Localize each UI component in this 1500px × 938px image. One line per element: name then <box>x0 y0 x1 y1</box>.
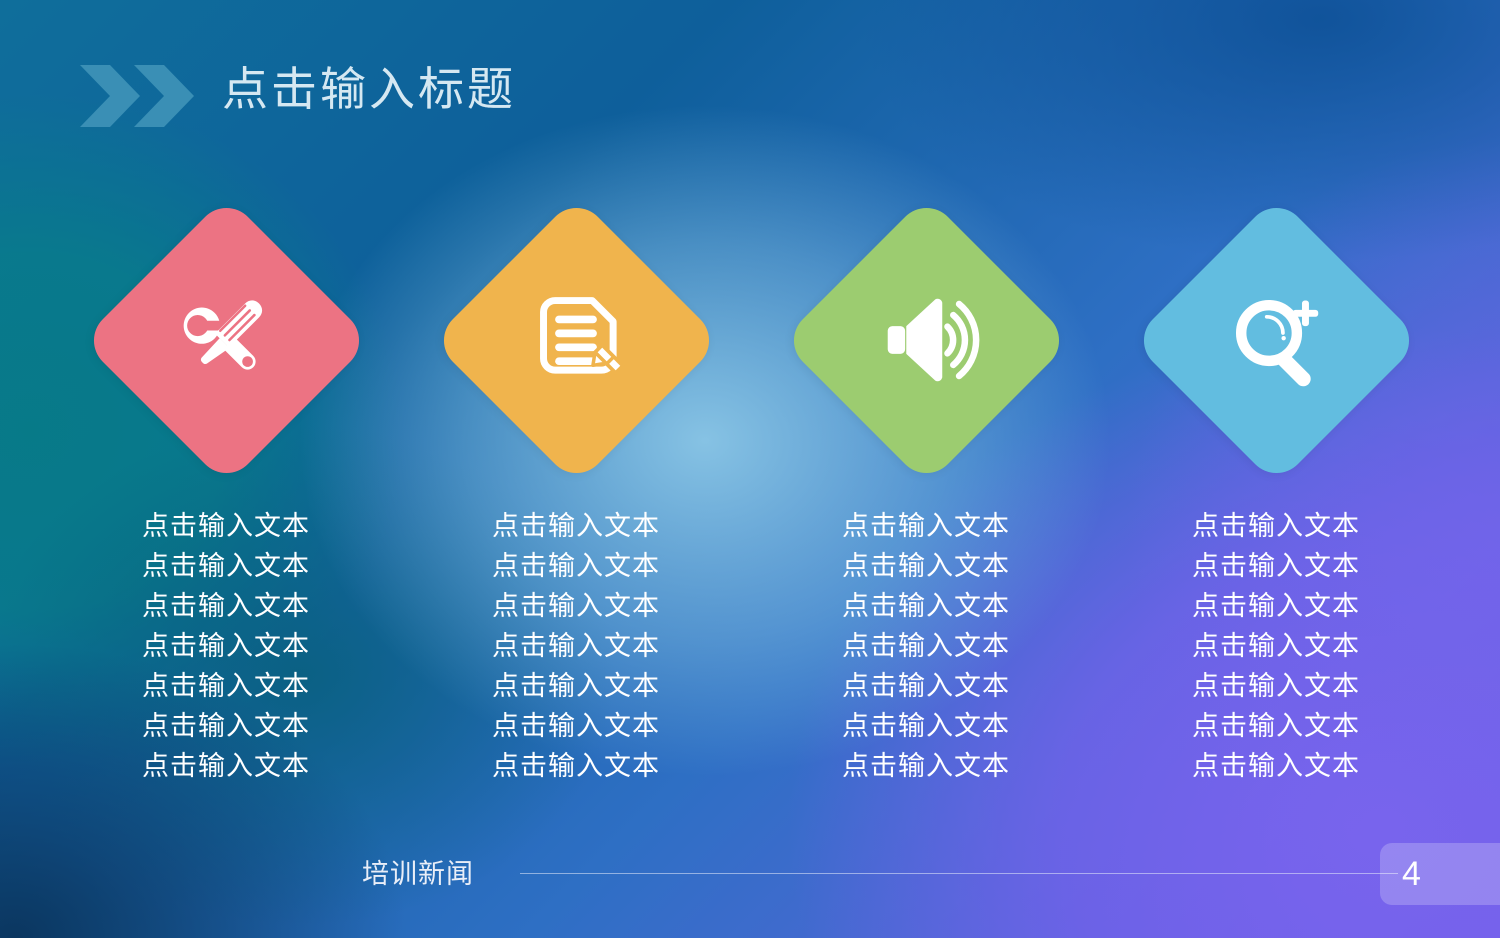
icon-card-tools[interactable] <box>76 190 376 490</box>
text-line: 点击输入文本 <box>76 706 376 746</box>
speaker-volume-icon <box>866 280 986 400</box>
footer-divider <box>520 873 1398 874</box>
double-chevron-right-icon <box>78 63 196 134</box>
text-line: 点击输入文本 <box>76 626 376 666</box>
text-line: 点击输入文本 <box>1126 746 1426 786</box>
text-line: 点击输入文本 <box>426 546 726 586</box>
text-line: 点击输入文本 <box>426 506 726 546</box>
text-column-4: 点击输入文本 点击输入文本 点击输入文本 点击输入文本 点击输入文本 点击输入文… <box>1126 506 1426 786</box>
icon-card-search[interactable] <box>1126 190 1426 490</box>
text-line: 点击输入文本 <box>426 746 726 786</box>
text-line: 点击输入文本 <box>1126 506 1426 546</box>
text-line: 点击输入文本 <box>76 666 376 706</box>
presentation-slide: 点击输入标题 <box>0 0 1500 938</box>
text-line: 点击输入文本 <box>776 626 1076 666</box>
text-column-3: 点击输入文本 点击输入文本 点击输入文本 点击输入文本 点击输入文本 点击输入文… <box>776 506 1076 786</box>
document-edit-icon <box>516 280 636 400</box>
text-line: 点击输入文本 <box>776 586 1076 626</box>
footer-label: 培训新闻 <box>362 852 474 891</box>
icon-card-row <box>0 190 1500 490</box>
text-line: 点击输入文本 <box>426 666 726 706</box>
text-line: 点击输入文本 <box>76 586 376 626</box>
text-line: 点击输入文本 <box>1126 706 1426 746</box>
page-title: 点击输入标题 <box>222 62 516 117</box>
text-line: 点击输入文本 <box>426 586 726 626</box>
text-line: 点击输入文本 <box>76 746 376 786</box>
text-line: 点击输入文本 <box>1126 666 1426 706</box>
slide-footer: 培训新闻 4 <box>0 828 1500 938</box>
text-line: 点击输入文本 <box>76 506 376 546</box>
text-line: 点击输入文本 <box>1126 626 1426 666</box>
text-line: 点击输入文本 <box>776 546 1076 586</box>
text-line: 点击输入文本 <box>426 626 726 666</box>
text-line: 点击输入文本 <box>776 746 1076 786</box>
page-number-badge: 4 <box>1380 843 1500 905</box>
text-column-1: 点击输入文本 点击输入文本 点击输入文本 点击输入文本 点击输入文本 点击输入文… <box>76 506 376 786</box>
text-line: 点击输入文本 <box>1126 586 1426 626</box>
text-column-row: 点击输入文本 点击输入文本 点击输入文本 点击输入文本 点击输入文本 点击输入文… <box>0 506 1500 806</box>
text-line: 点击输入文本 <box>776 706 1076 746</box>
tools-icon <box>166 280 286 400</box>
icon-card-document[interactable] <box>426 190 726 490</box>
text-line: 点击输入文本 <box>776 506 1076 546</box>
text-column-2: 点击输入文本 点击输入文本 点击输入文本 点击输入文本 点击输入文本 点击输入文… <box>426 506 726 786</box>
page-number: 4 <box>1402 857 1421 891</box>
magnifier-plus-icon <box>1216 280 1336 400</box>
text-line: 点击输入文本 <box>426 706 726 746</box>
icon-card-audio[interactable] <box>776 190 1076 490</box>
slide-header: 点击输入标题 <box>0 0 1500 170</box>
text-line: 点击输入文本 <box>76 546 376 586</box>
text-line: 点击输入文本 <box>776 666 1076 706</box>
text-line: 点击输入文本 <box>1126 546 1426 586</box>
